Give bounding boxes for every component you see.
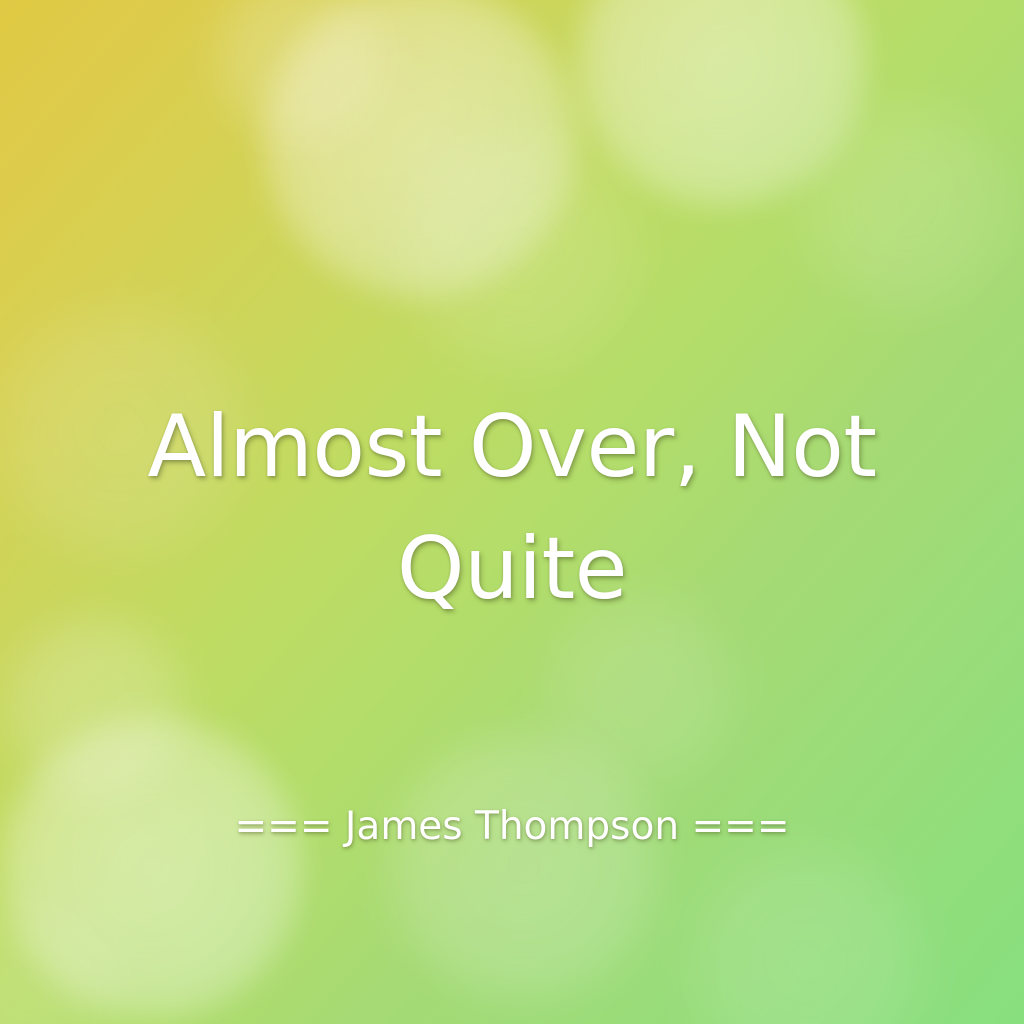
book-cover-poster: Almost Over, Not Quite === James Thompso… [0, 0, 1024, 1024]
cover-author-line: === James Thompson === [60, 803, 964, 852]
title-block: Almost Over, Not Quite [0, 386, 1024, 630]
cover-title: Almost Over, Not Quite [96, 386, 928, 630]
author-block: === James Thompson === [0, 803, 1024, 852]
cover-content: Almost Over, Not Quite === James Thompso… [0, 0, 1024, 1024]
